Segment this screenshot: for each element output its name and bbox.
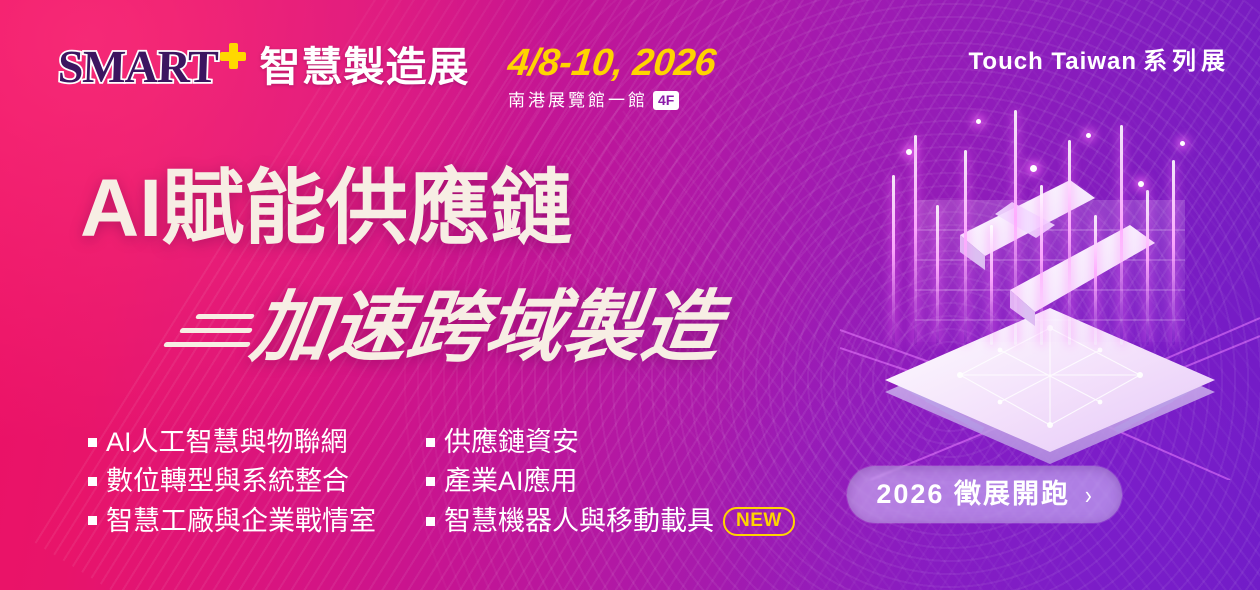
bullet-square-icon: [88, 477, 97, 486]
list-item: 供應鏈資安: [426, 428, 795, 456]
bullet-square-icon: [88, 516, 97, 525]
bullet-square-icon: [88, 438, 97, 447]
light-beams: [880, 95, 1200, 345]
cta-label: 2026 徵展開跑: [876, 481, 1070, 508]
plus-icon: [220, 43, 246, 69]
topic-label: 數位轉型與系統整合: [106, 467, 349, 495]
event-venue-row: 南港展覽館一館 4F: [508, 91, 715, 110]
topic-column-left: AI人工智慧與物聯網 數位轉型與系統整合 智慧工廠與企業戰情室: [88, 428, 398, 536]
topic-label: 供應鏈資安: [444, 428, 579, 456]
promo-banner: SMART 智慧製造展 4/8-10, 2026 南港展覽館一館 4F Touc…: [0, 0, 1260, 590]
cta-apply-button[interactable]: 2026 徵展開跑 ›: [847, 466, 1122, 523]
new-badge: NEW: [723, 507, 795, 537]
event-venue: 南港展覽館一館: [508, 92, 648, 109]
venue-floor-badge: 4F: [653, 91, 679, 110]
series-tag-zh: 系列展: [1143, 48, 1230, 75]
speed-lines-icon: [160, 300, 250, 360]
topic-list: AI人工智慧與物聯網 數位轉型與系統整合 智慧工廠與企業戰情室 供應鏈資安 產業…: [88, 428, 795, 536]
series-tag: Touch Taiwan系列展: [969, 50, 1230, 74]
list-item: 智慧工廠與企業戰情室: [88, 507, 398, 535]
headline-secondary: 加速跨域製造: [247, 288, 726, 366]
bullet-square-icon: [426, 438, 435, 447]
chevron-right-icon: ›: [1085, 482, 1092, 508]
topic-label: 產業AI應用: [444, 467, 578, 495]
list-item: 產業AI應用: [426, 467, 795, 495]
exhibition-title-zh: 智慧製造展: [260, 47, 470, 88]
topic-label: 智慧機器人與移動載具: [444, 507, 714, 535]
list-item: 數位轉型與系統整合: [88, 467, 398, 495]
smart-wordmark-text: SMART: [57, 41, 218, 92]
smart-wordmark: SMART: [57, 44, 218, 90]
series-tag-en: Touch Taiwan: [969, 48, 1137, 75]
bullet-square-icon: [426, 477, 435, 486]
list-item: 智慧機器人與移動載具 NEW: [426, 507, 795, 537]
topic-label: AI人工智慧與物聯網: [106, 428, 348, 456]
event-date: 4/8-10, 2026: [506, 44, 717, 82]
event-date-block: 4/8-10, 2026 南港展覽館一館 4F: [508, 44, 715, 110]
list-item: AI人工智慧與物聯網: [88, 428, 398, 456]
brand-logo[interactable]: SMART 智慧製造展: [58, 44, 470, 90]
topic-label: 智慧工廠與企業戰情室: [106, 507, 376, 535]
bullet-square-icon: [426, 517, 435, 526]
isometric-ai-chip-illustration: [840, 80, 1260, 480]
headline-secondary-wrap: 加速跨域製造: [160, 288, 720, 366]
topic-column-right: 供應鏈資安 產業AI應用 智慧機器人與移動載具 NEW: [426, 428, 795, 536]
headline-primary: AI賦能供應鏈: [80, 168, 572, 250]
